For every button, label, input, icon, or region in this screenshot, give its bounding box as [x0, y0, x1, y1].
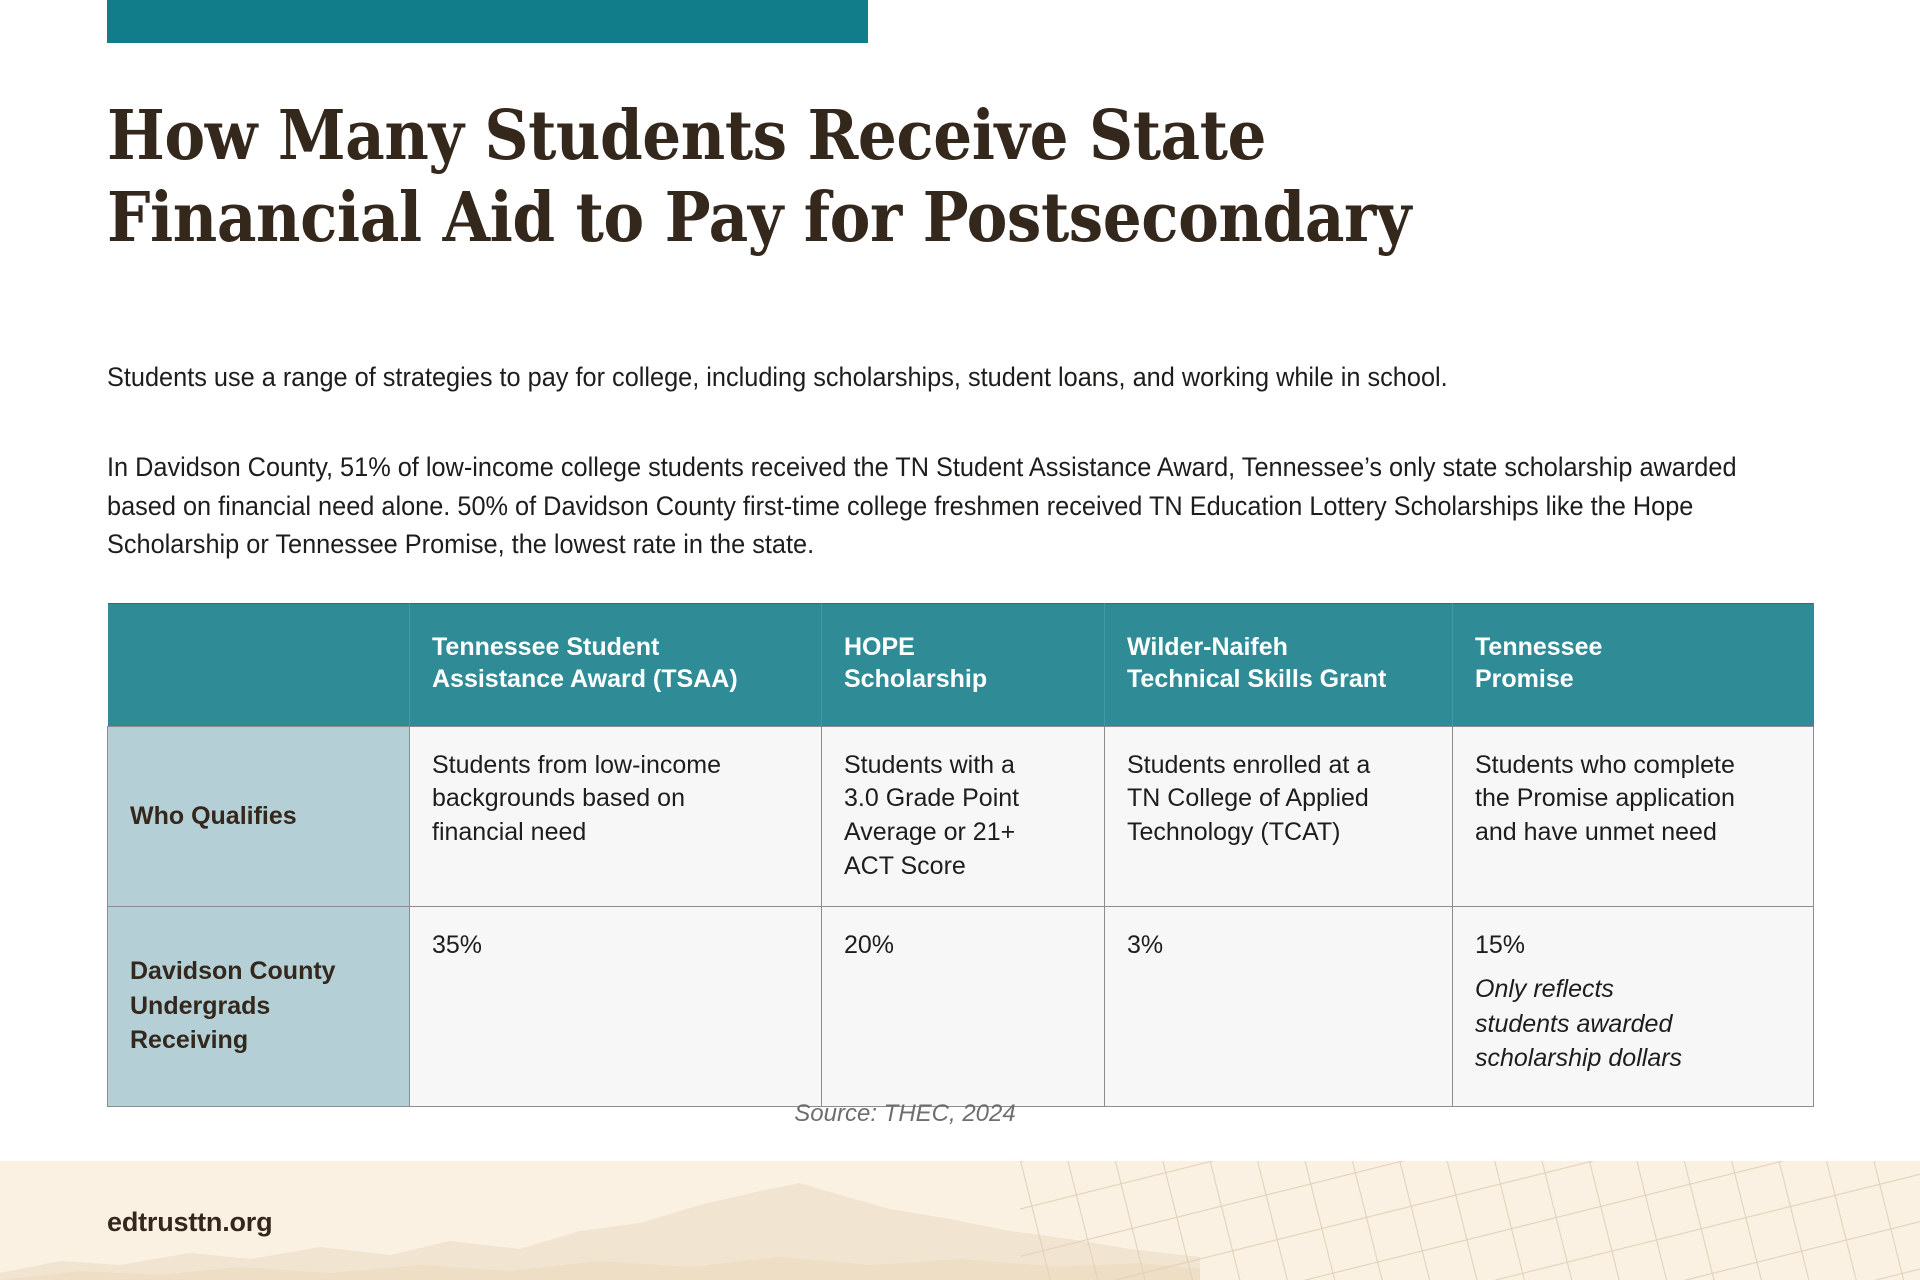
lattice-pattern-icon [1020, 1161, 1920, 1280]
table-header-wilder-naifeh: Wilder-Naifeh Technical Skills Grant [1105, 604, 1453, 727]
row-label-davidson-undergrads-receiving: Davidson County Undergrads Receiving [108, 906, 410, 1106]
body-paragraph: In Davidson County, 51% of low-income co… [107, 448, 1788, 564]
cell-qualifies-wilder-naifeh: Students enrolled at a TN College of App… [1105, 726, 1453, 906]
cell-qualifies-tsaa: Students from low-income backgrounds bas… [410, 726, 822, 906]
cell-receiving-hope: 20% [822, 906, 1105, 1106]
cell-value: 3% [1127, 931, 1163, 959]
cell-qualifies-tn-promise: Students who complete the Promise applic… [1453, 726, 1814, 906]
cell-qualifies-hope: Students with a 3.0 Grade Point Average … [822, 726, 1105, 906]
cell-value: 35% [432, 931, 482, 959]
program-comparison-table: Tennessee Student Assistance Award (TSAA… [107, 603, 1814, 1107]
cell-receiving-wilder-naifeh: 3% [1105, 906, 1453, 1106]
cell-receiving-tn-promise: 15%Only reflects students awarded schola… [1453, 906, 1814, 1106]
source-caption: Source: THEC, 2024 [0, 1100, 1920, 1128]
page-title: How Many Students Receive State Financia… [107, 96, 1691, 259]
table-body: Who Qualifies Students from low-income b… [108, 726, 1814, 1106]
cell-receiving-tsaa: 35% [410, 906, 822, 1106]
program-comparison-table-wrapper: Tennessee Student Assistance Award (TSAA… [107, 603, 1813, 1107]
page-footer: edtrusttn.org [0, 1161, 1920, 1280]
infographic-page: How Many Students Receive State Financia… [0, 0, 1920, 1280]
cell-value: 20% [844, 931, 894, 959]
table-header-tsaa: Tennessee Student Assistance Award (TSAA… [410, 604, 822, 727]
cell-value: 15% [1475, 931, 1525, 959]
table-row: Davidson County Undergrads Receiving 35%… [108, 906, 1814, 1106]
table-header-tn-promise: Tennessee Promise [1453, 604, 1814, 727]
top-accent-bar [107, 0, 868, 43]
table-header-hope: HOPE Scholarship [822, 604, 1105, 727]
table-head: Tennessee Student Assistance Award (TSAA… [108, 604, 1814, 727]
cell-footnote: Only reflects students awarded scholarsh… [1475, 972, 1793, 1076]
table-header-blank [108, 604, 410, 727]
table-row: Who Qualifies Students from low-income b… [108, 726, 1814, 906]
row-label-who-qualifies: Who Qualifies [108, 726, 410, 906]
footer-url[interactable]: edtrusttn.org [107, 1207, 272, 1238]
table-header-row: Tennessee Student Assistance Award (TSAA… [108, 604, 1814, 727]
lede-paragraph: Students use a range of strategies to pa… [107, 360, 1769, 394]
